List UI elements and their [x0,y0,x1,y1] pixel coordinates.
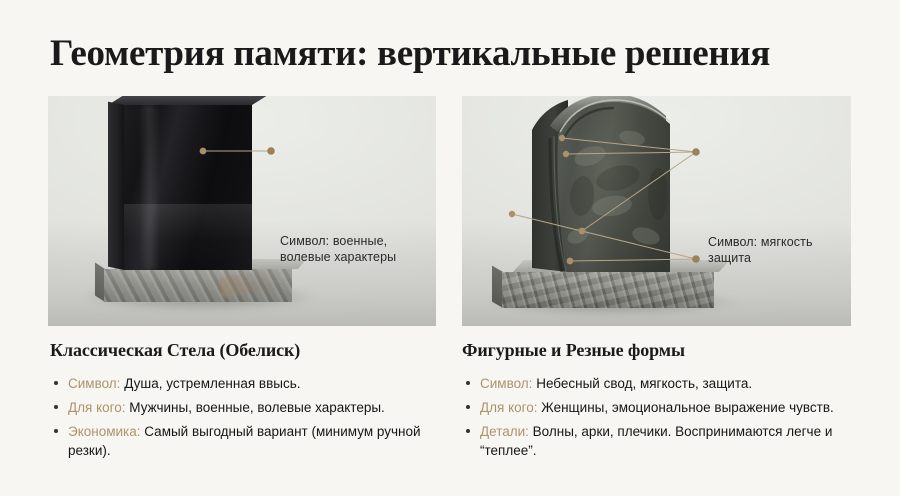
base-front-face [502,272,714,308]
list-item: Символ: Душа, устремленная ввысь. [50,374,450,393]
list-item: Символ: Небесный свод, мягкость, защита. [462,374,874,393]
bullet-list: Символ: Небесный свод, мягкость, защита.… [462,374,874,460]
stele-front-face [124,105,252,270]
callout-label-symbol-left: Символ: военные, волевые характеры [280,233,396,265]
base-front-face [104,269,292,302]
bullet-label: Для кого: [68,400,126,415]
bullet-list: Символ: Душа, устремленная ввысь. Для ко… [50,374,450,460]
stele-top-face [108,96,266,105]
bullet-text: Волны, арки, плечики. Воспринимаются лег… [480,424,832,458]
bullet-text: Мужчины, военные, волевые характеры. [126,400,385,415]
bullet-text: Женщины, эмоциональное выражение чувств. [538,400,834,415]
bullet-label: Детали: [480,424,529,439]
list-item: Экономика: Самый выгодный вариант (миним… [50,422,450,460]
column-classic-stele: Классическая Стела (Обелиск) Символ: Душ… [50,340,450,465]
slide: Геометрия памяти: вертикальные решения С… [0,0,900,496]
bullet-label: Символ: [68,376,120,391]
bullet-label: Экономика: [68,424,141,439]
column-carved-forms: Фигурные и Резные формы Символ: Небесный… [462,340,874,465]
column-heading: Фигурные и Резные формы [462,340,874,361]
stele-silhouette [520,96,680,276]
list-item: Для кого: Женщины, эмоциональное выражен… [462,398,874,417]
image-panel-carved-stele: Символ: мягкость защита Детали: Волны, а… [462,96,851,326]
monument-stele-classic [124,105,252,270]
list-item: Для кого: Мужчины, военные, волевые хара… [50,398,450,417]
monument-stele-carved [520,96,680,276]
bullet-label: Для кого: [480,400,538,415]
page-title: Геометрия памяти: вертикальные решения [50,32,770,75]
stele-side-face [108,102,124,270]
image-panel-classic-stele: Символ: военные, волевые характеры [48,96,436,326]
bullet-text: Небесный свод, мягкость, защита. [532,376,752,391]
callout-label-symbol-right: Символ: мягкость защита [708,234,813,266]
bullet-text: Душа, устремленная ввысь. [120,376,300,391]
column-heading: Классическая Стела (Обелиск) [50,340,450,361]
list-item: Детали: Волны, арки, плечики. Воспринима… [462,422,874,460]
bullet-label: Символ: [480,376,532,391]
